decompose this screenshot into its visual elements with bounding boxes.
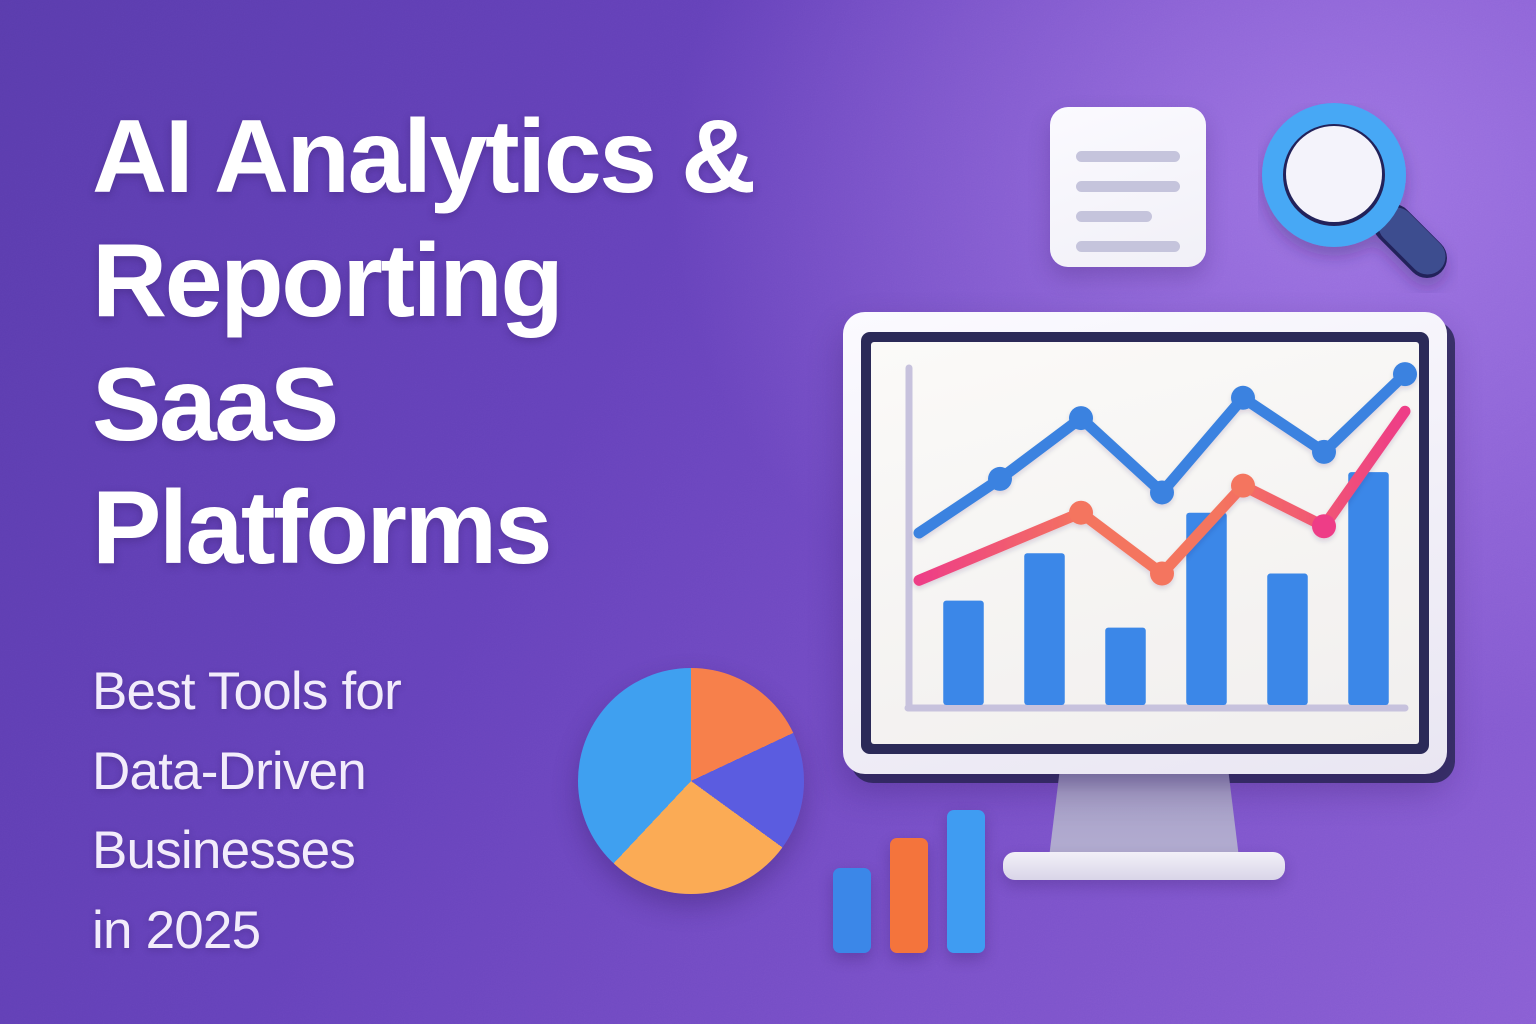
chart-bar (1267, 574, 1308, 705)
document-line (1076, 241, 1180, 252)
mini-bar (833, 868, 871, 953)
pie-chart (578, 668, 804, 894)
mini-bar-group (833, 808, 998, 953)
chart-data-point (1393, 362, 1417, 386)
monitor-bezel (861, 332, 1429, 754)
page-subtitle: Best Tools for Data-Driven Businesses in… (92, 652, 562, 970)
chart-bars (943, 472, 1389, 705)
document-line (1076, 211, 1152, 222)
mini-bar (947, 810, 985, 953)
page-title: AI Analytics & Reporting SaaS Platforms (92, 96, 972, 591)
monitor-screen (871, 342, 1419, 744)
chart-bar (1348, 472, 1389, 705)
chart-data-point (1150, 480, 1174, 504)
headline-block: AI Analytics & Reporting SaaS Platforms (92, 96, 972, 591)
poster-canvas: AI Analytics & Reporting SaaS Platforms … (0, 0, 1536, 1024)
chart-bar (1024, 553, 1065, 705)
chart-data-point (1312, 440, 1336, 464)
document-icon (1050, 107, 1206, 267)
chart-bar (1105, 628, 1146, 705)
analytics-chart (871, 342, 1419, 744)
magnifier-lens (1286, 126, 1382, 222)
chart-data-point (988, 467, 1012, 491)
chart-data-point (1069, 501, 1093, 525)
pie-disc (578, 668, 804, 894)
chart-bar (943, 601, 984, 705)
document-line (1076, 181, 1180, 192)
mini-bar (890, 838, 928, 953)
chart-lines (919, 362, 1417, 585)
chart-data-point (1312, 514, 1336, 538)
chart-data-point (1231, 386, 1255, 410)
chart-data-point (1069, 406, 1093, 430)
magnifier-icon (1258, 103, 1458, 293)
chart-data-point (1231, 474, 1255, 498)
monitor-frame (843, 312, 1447, 774)
desktop-monitor (843, 312, 1451, 872)
chart-data-point (1150, 562, 1174, 586)
monitor-stand-base (1003, 852, 1285, 880)
document-line (1076, 151, 1180, 162)
